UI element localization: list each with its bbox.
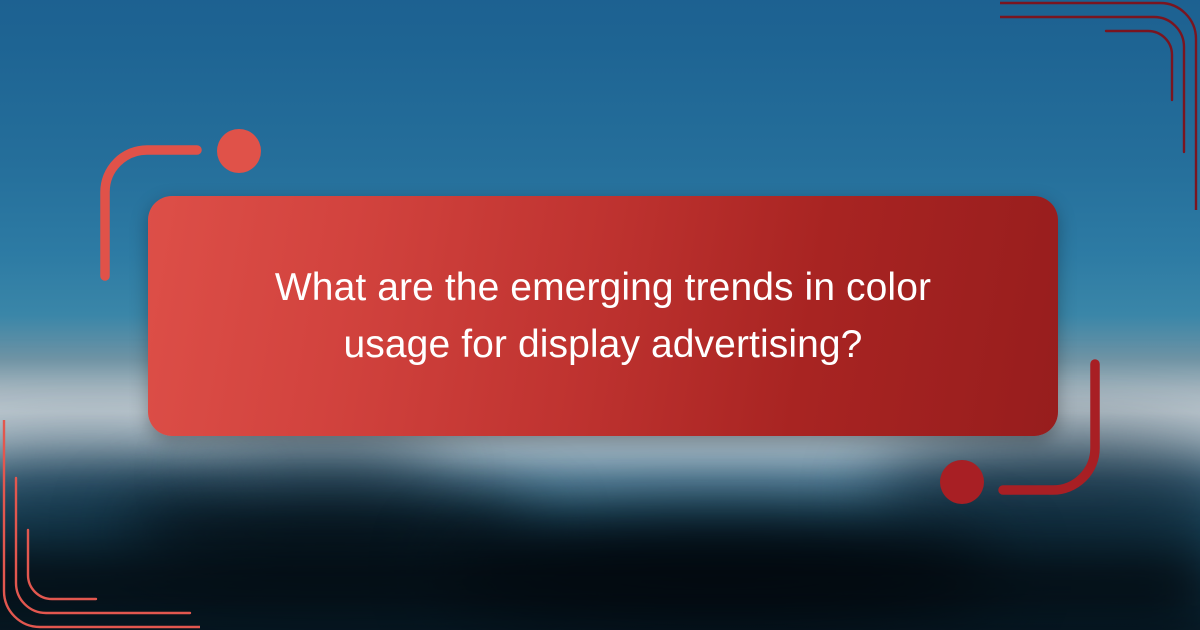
question-text: What are the emerging trends in color us… [243, 259, 963, 374]
question-card: What are the emerging trends in color us… [148, 196, 1058, 436]
background-shore-blob [0, 540, 1200, 630]
accent-dot-bottom-right-icon [940, 460, 984, 504]
poster-canvas: What are the emerging trends in color us… [0, 0, 1200, 630]
accent-dot-top-left-icon [217, 129, 261, 173]
